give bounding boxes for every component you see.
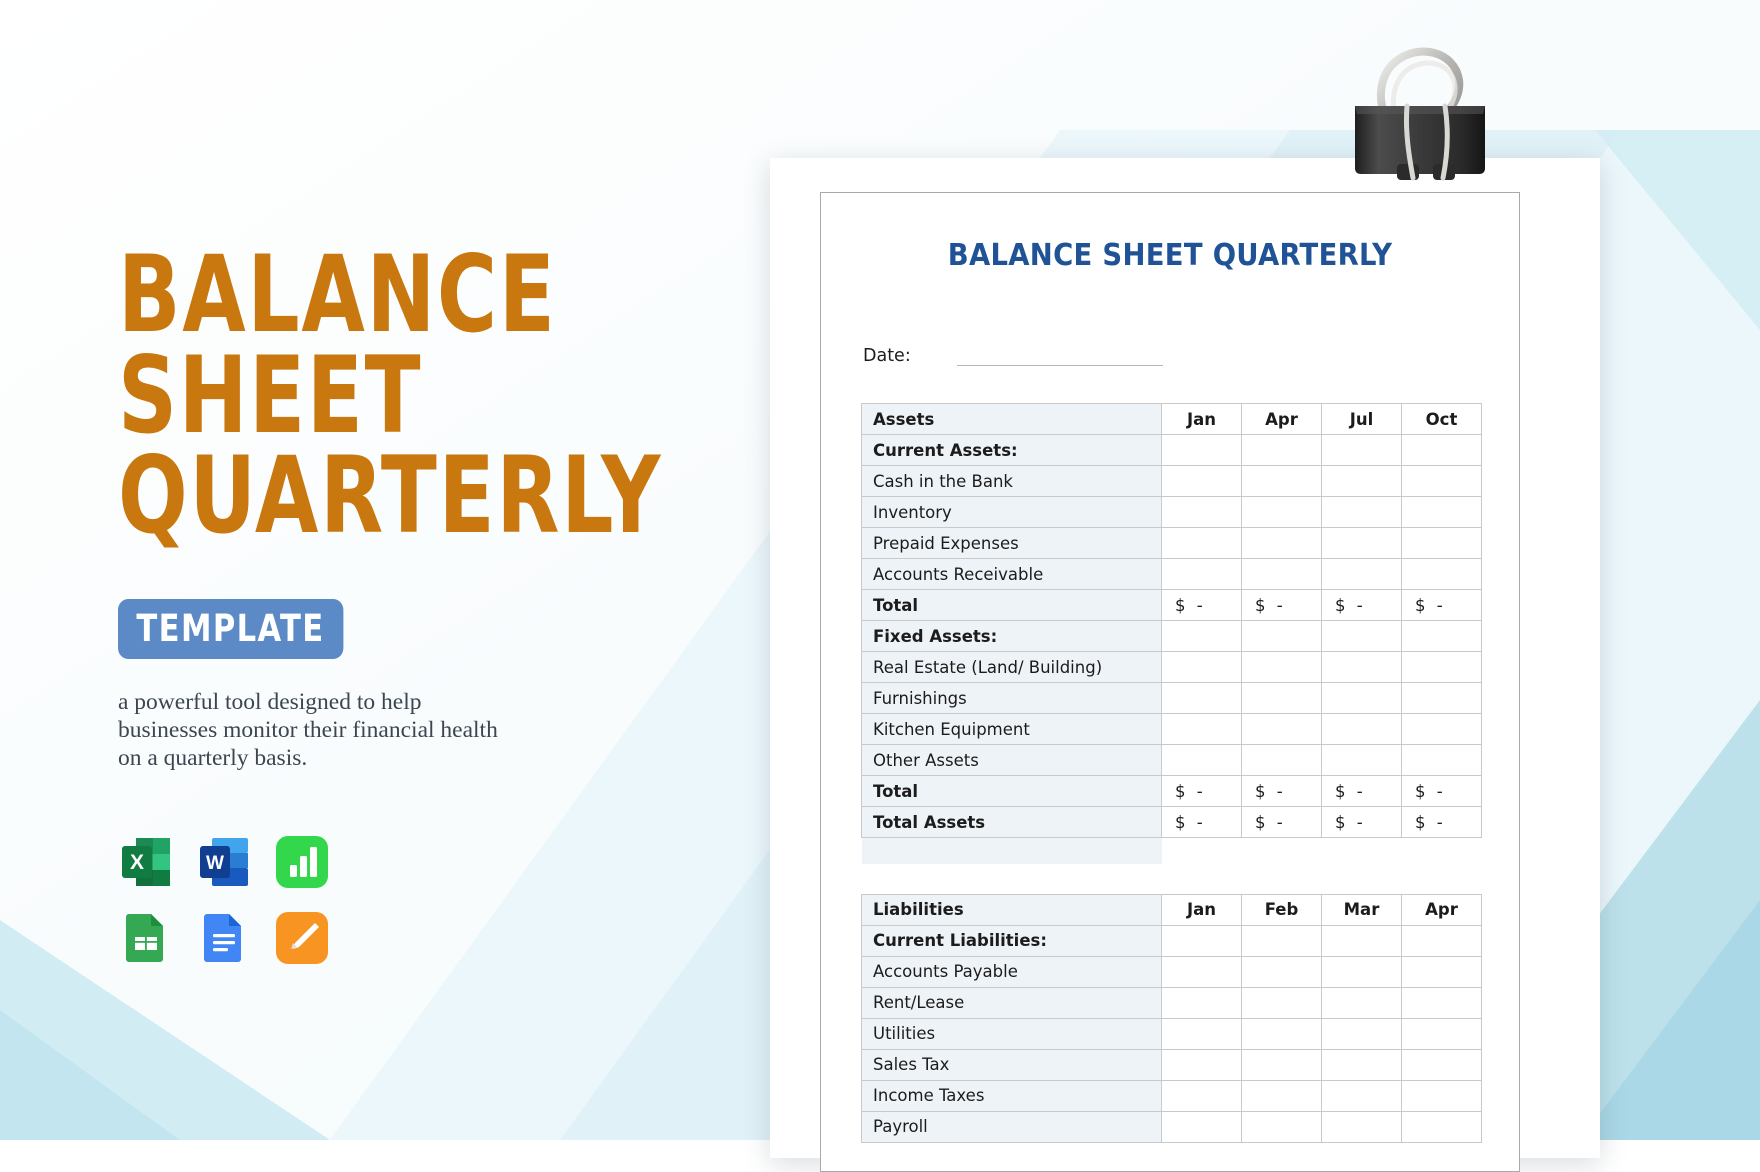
liabilities-header-month-3: Apr: [1402, 894, 1482, 925]
microsoft-excel-icon[interactable]: X: [118, 834, 174, 890]
spacer-cell: [1322, 838, 1402, 864]
assets-cell[interactable]: [1162, 745, 1242, 776]
assets-cell[interactable]: $ -: [1402, 807, 1482, 838]
document-title: BALANCE SHEET QUARTERLY: [821, 238, 1519, 273]
assets-cell[interactable]: [1402, 683, 1482, 714]
liabilities-row-label: Current Liabilities:: [862, 925, 1162, 956]
assets-row-label: Total Assets: [862, 807, 1162, 838]
table-row: Prepaid Expenses: [862, 528, 1482, 559]
liabilities-cell[interactable]: [1402, 1018, 1482, 1049]
liabilities-cell[interactable]: [1242, 1018, 1322, 1049]
table-row: Real Estate (Land/ Building): [862, 652, 1482, 683]
hero-description: a powerful tool designed to help busines…: [118, 689, 518, 772]
table-row: Total Assets$ -$ -$ -$ -: [862, 807, 1482, 838]
assets-cell[interactable]: $ -: [1162, 590, 1242, 621]
assets-cell[interactable]: [1322, 435, 1402, 466]
assets-cell[interactable]: [1402, 528, 1482, 559]
liabilities-cell[interactable]: [1162, 1080, 1242, 1111]
spacer-cell: [1242, 838, 1322, 864]
svg-text:W: W: [206, 853, 224, 874]
assets-header-month-2: Jul: [1322, 404, 1402, 435]
assets-cell[interactable]: [1322, 528, 1402, 559]
assets-cell[interactable]: $ -: [1162, 807, 1242, 838]
liabilities-header-month-2: Mar: [1322, 894, 1402, 925]
table-row: Total$ -$ -$ -$ -: [862, 590, 1482, 621]
assets-row-label: Prepaid Expenses: [862, 528, 1162, 559]
table-spacer-row: [862, 838, 1482, 864]
liabilities-cell[interactable]: [1322, 956, 1402, 987]
page-title: BALANCE SHEET QUARTERLY: [118, 245, 600, 547]
spacer-cell: [1402, 838, 1482, 864]
liabilities-cell[interactable]: [1402, 987, 1482, 1018]
apple-pages-icon[interactable]: [274, 910, 330, 966]
liabilities-cell[interactable]: [1402, 1111, 1482, 1142]
microsoft-word-icon[interactable]: W: [196, 834, 252, 890]
status-badge: TEMPLATE: [118, 599, 343, 659]
assets-cell[interactable]: [1322, 683, 1402, 714]
liabilities-cell[interactable]: [1242, 1080, 1322, 1111]
liabilities-header-month-0: Jan: [1162, 894, 1242, 925]
table-row: Fixed Assets:: [862, 621, 1482, 652]
liabilities-cell[interactable]: [1162, 956, 1242, 987]
liabilities-cell[interactable]: [1322, 1018, 1402, 1049]
liabilities-cell[interactable]: [1242, 1111, 1322, 1142]
liabilities-cell[interactable]: [1402, 1080, 1482, 1111]
liabilities-row-label: Payroll: [862, 1111, 1162, 1142]
assets-cell[interactable]: [1162, 497, 1242, 528]
assets-cell[interactable]: [1242, 621, 1322, 652]
assets-row-label: Other Assets: [862, 745, 1162, 776]
table-row: Inventory: [862, 497, 1482, 528]
date-field-row: Date:: [863, 346, 1163, 366]
liabilities-header-label: Liabilities: [862, 894, 1162, 925]
assets-cell[interactable]: [1242, 559, 1322, 590]
assets-row-label: Total: [862, 590, 1162, 621]
assets-cell[interactable]: [1242, 497, 1322, 528]
liabilities-cell[interactable]: [1322, 1080, 1402, 1111]
assets-cell[interactable]: $ -: [1402, 590, 1482, 621]
table-row: Current Liabilities:: [862, 925, 1482, 956]
assets-row-label: Total: [862, 776, 1162, 807]
assets-cell[interactable]: [1162, 466, 1242, 497]
table-row: Kitchen Equipment: [862, 714, 1482, 745]
google-sheets-icon[interactable]: [118, 910, 174, 966]
assets-cell[interactable]: [1322, 466, 1402, 497]
table-row: Cash in the Bank: [862, 466, 1482, 497]
assets-cell[interactable]: [1402, 497, 1482, 528]
liabilities-row-label: Income Taxes: [862, 1080, 1162, 1111]
assets-cell[interactable]: [1322, 745, 1402, 776]
assets-cell[interactable]: [1402, 714, 1482, 745]
assets-cell[interactable]: [1402, 435, 1482, 466]
liabilities-header-month-1: Feb: [1242, 894, 1322, 925]
assets-row-label: Current Assets:: [862, 435, 1162, 466]
liabilities-cell[interactable]: [1402, 956, 1482, 987]
table-row: Sales Tax: [862, 1049, 1482, 1080]
hero-panel: BALANCE SHEET QUARTERLY TEMPLATE a power…: [118, 245, 678, 976]
svg-text:X: X: [130, 851, 144, 874]
assets-row-label: Accounts Receivable: [862, 559, 1162, 590]
assets-cell[interactable]: [1322, 652, 1402, 683]
assets-row-label: Kitchen Equipment: [862, 714, 1162, 745]
app-format-icons: X W: [118, 824, 358, 976]
binder-clip-icon: [1333, 28, 1508, 188]
assets-row-label: Inventory: [862, 497, 1162, 528]
date-label: Date:: [863, 346, 911, 366]
table-row: Total$ -$ -$ -$ -: [862, 776, 1482, 807]
liabilities-table: Liabilities Jan Feb Mar Apr Current Liab…: [861, 894, 1482, 1143]
liabilities-cell[interactable]: [1242, 925, 1322, 956]
liabilities-cell[interactable]: [1242, 1049, 1322, 1080]
assets-cell[interactable]: [1322, 559, 1402, 590]
assets-cell[interactable]: [1242, 714, 1322, 745]
assets-cell[interactable]: [1162, 683, 1242, 714]
assets-header-month-1: Apr: [1242, 404, 1322, 435]
assets-cell[interactable]: [1162, 559, 1242, 590]
assets-cell[interactable]: $ -: [1322, 807, 1402, 838]
liabilities-cell[interactable]: [1322, 987, 1402, 1018]
assets-cell[interactable]: [1402, 621, 1482, 652]
balance-sheet-document[interactable]: BALANCE SHEET QUARTERLY Date: Assets Jan…: [820, 192, 1520, 1172]
liabilities-row-label: Rent/Lease: [862, 987, 1162, 1018]
assets-cell[interactable]: [1162, 528, 1242, 559]
liabilities-row-label: Utilities: [862, 1018, 1162, 1049]
assets-cell[interactable]: $ -: [1242, 776, 1322, 807]
liabilities-row-label: Accounts Payable: [862, 956, 1162, 987]
assets-table: Assets Jan Apr Jul Oct Current Assets:Ca…: [861, 403, 1482, 864]
liabilities-cell[interactable]: [1162, 925, 1242, 956]
assets-cell[interactable]: $ -: [1162, 776, 1242, 807]
table-row: Furnishings: [862, 683, 1482, 714]
liabilities-cell[interactable]: [1162, 987, 1242, 1018]
google-docs-icon[interactable]: [196, 910, 252, 966]
assets-row-label: Furnishings: [862, 683, 1162, 714]
spacer-cell: [1162, 838, 1242, 864]
liabilities-cell[interactable]: [1322, 1111, 1402, 1142]
assets-cell[interactable]: [1402, 559, 1482, 590]
table-row: Payroll: [862, 1111, 1482, 1142]
assets-header-label: Assets: [862, 404, 1162, 435]
table-row: Accounts Receivable: [862, 559, 1482, 590]
liabilities-cell[interactable]: [1322, 1049, 1402, 1080]
assets-cell[interactable]: [1242, 528, 1322, 559]
assets-cell[interactable]: [1322, 621, 1402, 652]
assets-header-month-3: Oct: [1402, 404, 1482, 435]
assets-row-label: Cash in the Bank: [862, 466, 1162, 497]
assets-cell[interactable]: [1162, 652, 1242, 683]
liabilities-cell[interactable]: [1162, 1111, 1242, 1142]
table-row: Current Assets:: [862, 435, 1482, 466]
liabilities-cell[interactable]: [1242, 987, 1322, 1018]
liabilities-cell[interactable]: [1162, 1018, 1242, 1049]
assets-cell[interactable]: [1402, 466, 1482, 497]
liabilities-cell[interactable]: [1322, 925, 1402, 956]
assets-cell[interactable]: [1242, 652, 1322, 683]
liabilities-cell[interactable]: [1402, 925, 1482, 956]
table-row: Income Taxes: [862, 1080, 1482, 1111]
liabilities-row-label: Sales Tax: [862, 1049, 1162, 1080]
liabilities-cell[interactable]: [1162, 1049, 1242, 1080]
assets-cell[interactable]: [1322, 714, 1402, 745]
table-row: Other Assets: [862, 745, 1482, 776]
assets-cell[interactable]: $ -: [1242, 590, 1322, 621]
assets-cell[interactable]: [1242, 435, 1322, 466]
date-input[interactable]: [957, 352, 1163, 366]
assets-row-label: Real Estate (Land/ Building): [862, 652, 1162, 683]
assets-cell[interactable]: [1162, 714, 1242, 745]
table-row: Utilities: [862, 1018, 1482, 1049]
assets-cell[interactable]: [1242, 466, 1322, 497]
apple-numbers-icon[interactable]: [274, 834, 330, 890]
assets-cell[interactable]: [1242, 683, 1322, 714]
assets-cell[interactable]: $ -: [1322, 776, 1402, 807]
assets-row-label: Fixed Assets:: [862, 621, 1162, 652]
assets-cell[interactable]: $ -: [1322, 590, 1402, 621]
assets-cell[interactable]: [1402, 652, 1482, 683]
table-header-row: Assets Jan Apr Jul Oct: [862, 404, 1482, 435]
table-row: Accounts Payable: [862, 956, 1482, 987]
table-row: Rent/Lease: [862, 987, 1482, 1018]
assets-cell[interactable]: $ -: [1402, 776, 1482, 807]
assets-cell[interactable]: [1162, 621, 1242, 652]
liabilities-cell[interactable]: [1242, 956, 1322, 987]
assets-cell[interactable]: [1322, 497, 1402, 528]
assets-cell[interactable]: $ -: [1242, 807, 1322, 838]
liabilities-cell[interactable]: [1402, 1049, 1482, 1080]
assets-header-month-0: Jan: [1162, 404, 1242, 435]
assets-cell[interactable]: [1242, 745, 1322, 776]
spacer-cell: [862, 838, 1162, 864]
table-header-row: Liabilities Jan Feb Mar Apr: [862, 894, 1482, 925]
assets-cell[interactable]: [1162, 435, 1242, 466]
assets-cell[interactable]: [1402, 745, 1482, 776]
